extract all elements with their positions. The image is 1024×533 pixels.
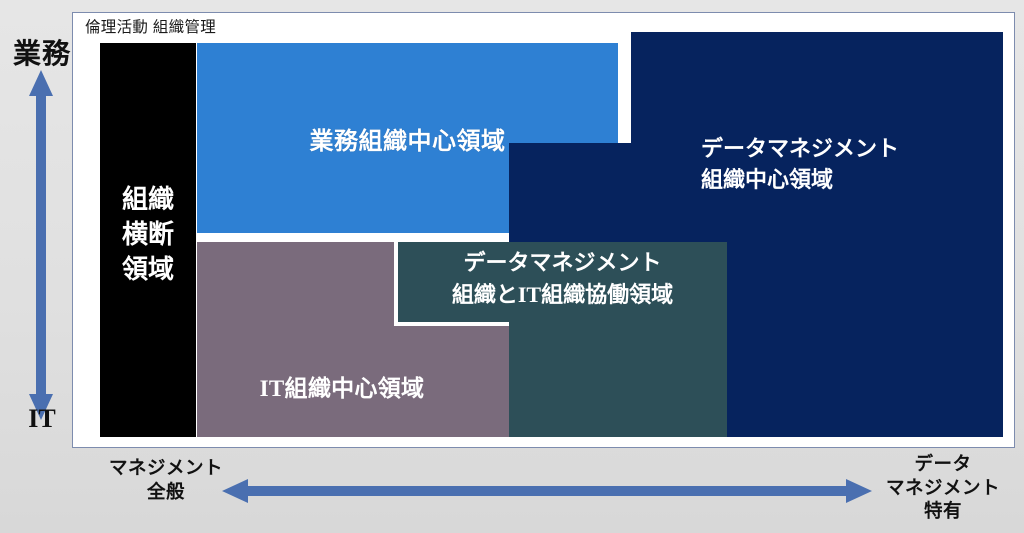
block-dm-org-center-upper[interactable] (631, 32, 1003, 144)
vertical-double-arrow-icon (28, 70, 54, 420)
diagram-canvas: 業務 IT マネジメント 全般 データ マネジメント 特有 倫理活動 組織管理 … (0, 0, 1024, 533)
block-collaboration-label: データマネジメント 組織とIT組織協働領域 (398, 247, 727, 311)
block-it-org-center-label: IT組織中心領域 (197, 369, 487, 403)
diagram-frame: 倫理活動 組織管理 組織 横断 領域 業務組織中心領域 データマネジメント 組織… (72, 12, 1015, 448)
block-collaboration-lower[interactable] (509, 321, 727, 437)
horizontal-axis-right-label: データ マネジメント 特有 (862, 452, 1024, 523)
frame-title: 倫理活動 組織管理 (85, 15, 216, 37)
horizontal-double-arrow-icon (222, 478, 872, 504)
vertical-axis-bottom-label: IT (4, 404, 80, 434)
block-dm-org-center-label: データマネジメント 組織中心領域 (701, 133, 1024, 195)
vertical-axis-top-label: 業務 (4, 32, 80, 72)
block-cross-org-label: 組織 横断 領域 (100, 183, 196, 287)
block-it-org-center-left[interactable] (197, 242, 394, 437)
block-cross-org[interactable]: 組織 横断 領域 (100, 43, 196, 437)
